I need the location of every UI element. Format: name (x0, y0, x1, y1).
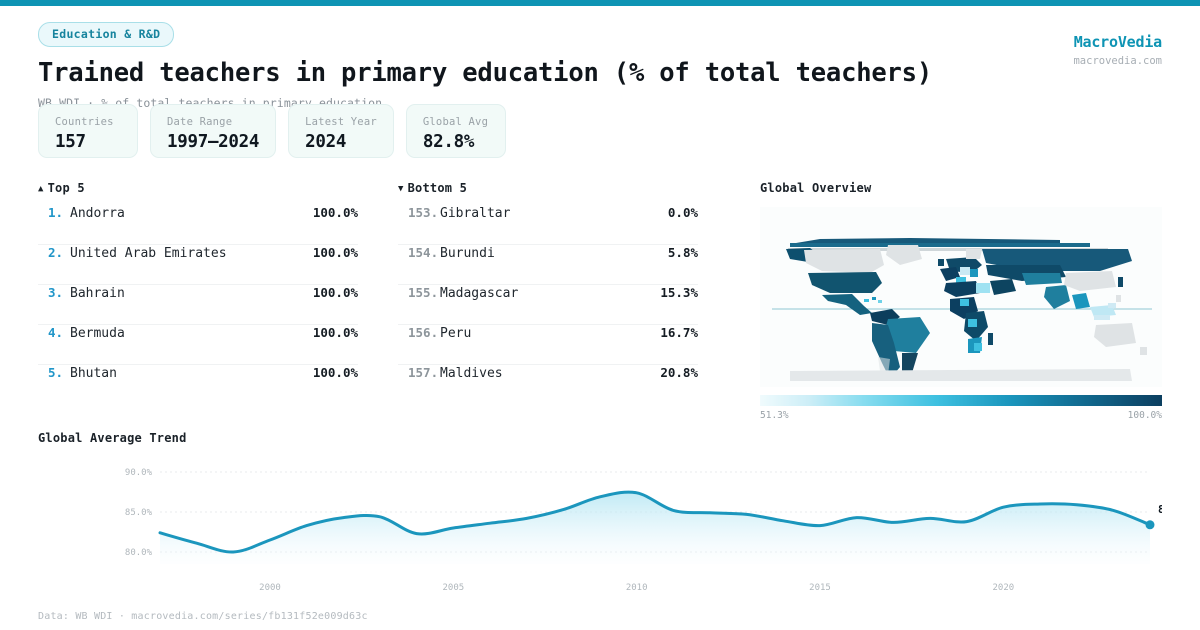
trend-svg: 90.0%85.0%80.0% 20002005201020152020 83.… (38, 456, 1162, 598)
country-name: Burundi (440, 246, 668, 261)
rank-number: 3. (38, 285, 70, 300)
category-badge: Education & R&D (38, 22, 174, 47)
country-value: 100.0% (313, 285, 358, 300)
top-accent-bar (0, 0, 1200, 6)
infographic-page: Education & R&D Trained teachers in prim… (0, 0, 1200, 630)
endpoint-marker: 83.4% (1146, 503, 1163, 530)
map-svg (760, 207, 1162, 387)
country-value: 15.3% (660, 285, 698, 300)
country-name: Andorra (70, 206, 313, 221)
stat-label: Date Range (167, 116, 259, 128)
svg-text:85.0%: 85.0% (125, 508, 153, 518)
stat-card-latest-year: Latest Year 2024 (288, 104, 394, 158)
table-row: 1. Andorra 100.0% (38, 205, 358, 245)
rank-number: 2. (38, 245, 70, 260)
brand: MacroVedia macrovedia.com (1073, 33, 1162, 67)
country-value: 20.8% (660, 365, 698, 380)
rank-number: 1. (38, 205, 70, 220)
page-title: Trained teachers in primary education (%… (38, 58, 1038, 88)
table-row: 3. Bahrain 100.0% (38, 285, 358, 325)
rank-number: 4. (38, 325, 70, 340)
svg-text:2010: 2010 (626, 583, 648, 593)
triangle-up-icon: ▲ (38, 184, 44, 194)
svg-text:2020: 2020 (992, 583, 1014, 593)
stat-card-countries: Countries 157 (38, 104, 138, 158)
map-title: Global Overview (760, 181, 1162, 195)
table-row: 5. Bhutan 100.0% (38, 365, 358, 405)
stat-value: 2024 (305, 132, 377, 152)
country-name: Bahrain (70, 286, 313, 301)
rank-number: 5. (38, 365, 70, 380)
brand-url: macrovedia.com (1073, 55, 1162, 67)
table-row: 153. Gibraltar 0.0% (398, 205, 698, 245)
svg-text:83.4%: 83.4% (1158, 503, 1162, 516)
rank-number: 155. (398, 285, 440, 300)
x-axis-labels: 20002005201020152020 (259, 583, 1014, 593)
stat-value: 82.8% (423, 132, 489, 152)
y-axis-labels: 90.0%85.0%80.0% (125, 468, 153, 558)
footer-source: Data: WB WDI · macrovedia.com/series/fb1… (38, 611, 368, 622)
table-row: 157. Maldives 20.8% (398, 365, 698, 405)
table-row: 4. Bermuda 100.0% (38, 325, 358, 365)
table-row: 155. Madagascar 15.3% (398, 285, 698, 325)
svg-text:2015: 2015 (809, 583, 831, 593)
trend-chart: 90.0%85.0%80.0% 20002005201020152020 83.… (38, 456, 1162, 598)
svg-text:2000: 2000 (259, 583, 281, 593)
stat-value: 1997—2024 (167, 132, 259, 152)
trend-title: Global Average Trend (38, 431, 1162, 445)
rank-number: 154. (398, 245, 440, 260)
country-value: 100.0% (313, 245, 358, 260)
world-choropleth-map (760, 207, 1162, 387)
global-overview-panel: Global Overview (760, 181, 1162, 421)
country-name: Peru (440, 326, 660, 341)
map-color-legend (760, 395, 1162, 406)
trend-panel: Global Average Trend 90.0%85.0%80.0% 200… (38, 431, 1162, 598)
country-value: 0.0% (668, 205, 698, 220)
top-5-panel: ▲Top 5 1. Andorra 100.0% 2. United Arab … (38, 181, 358, 405)
stat-label: Latest Year (305, 116, 377, 128)
legend-min-label: 51.3% (760, 410, 789, 421)
country-value: 100.0% (313, 205, 358, 220)
triangle-down-icon: ▼ (398, 184, 404, 194)
country-name: United Arab Emirates (70, 246, 313, 261)
top-5-header: ▲Top 5 (38, 181, 358, 195)
map-legend-labels: 51.3% 100.0% (760, 410, 1162, 421)
country-value: 5.8% (668, 245, 698, 260)
country-value: 100.0% (313, 365, 358, 380)
stat-label: Global Avg (423, 116, 489, 128)
country-name: Bermuda (70, 326, 313, 341)
brand-name: MacroVedia (1073, 33, 1162, 51)
header: Education & R&D Trained teachers in prim… (38, 22, 1038, 110)
bottom-5-title: Bottom 5 (408, 181, 467, 195)
country-name: Bhutan (70, 366, 313, 381)
svg-text:2005: 2005 (442, 583, 464, 593)
stat-label: Countries (55, 116, 121, 128)
country-value: 100.0% (313, 325, 358, 340)
table-row: 2. United Arab Emirates 100.0% (38, 245, 358, 285)
country-value: 16.7% (660, 325, 698, 340)
country-name: Madagascar (440, 286, 660, 301)
legend-max-label: 100.0% (1128, 410, 1162, 421)
country-name: Gibraltar (440, 206, 668, 221)
table-row: 154. Burundi 5.8% (398, 245, 698, 285)
rank-number: 157. (398, 365, 440, 380)
bottom-5-header: ▼Bottom 5 (398, 181, 698, 195)
stat-card-global-avg: Global Avg 82.8% (406, 104, 506, 158)
top-5-title: Top 5 (48, 181, 85, 195)
svg-text:90.0%: 90.0% (125, 468, 153, 478)
svg-text:80.0%: 80.0% (125, 548, 153, 558)
table-row: 156. Peru 16.7% (398, 325, 698, 365)
country-name: Maldives (440, 366, 660, 381)
bottom-5-panel: ▼Bottom 5 153. Gibraltar 0.0% 154. Burun… (398, 181, 698, 405)
stat-card-date-range: Date Range 1997—2024 (150, 104, 276, 158)
stat-card-row: Countries 157 Date Range 1997—2024 Lates… (38, 104, 506, 158)
rank-number: 156. (398, 325, 440, 340)
rank-number: 153. (398, 205, 440, 220)
stat-value: 157 (55, 132, 121, 152)
